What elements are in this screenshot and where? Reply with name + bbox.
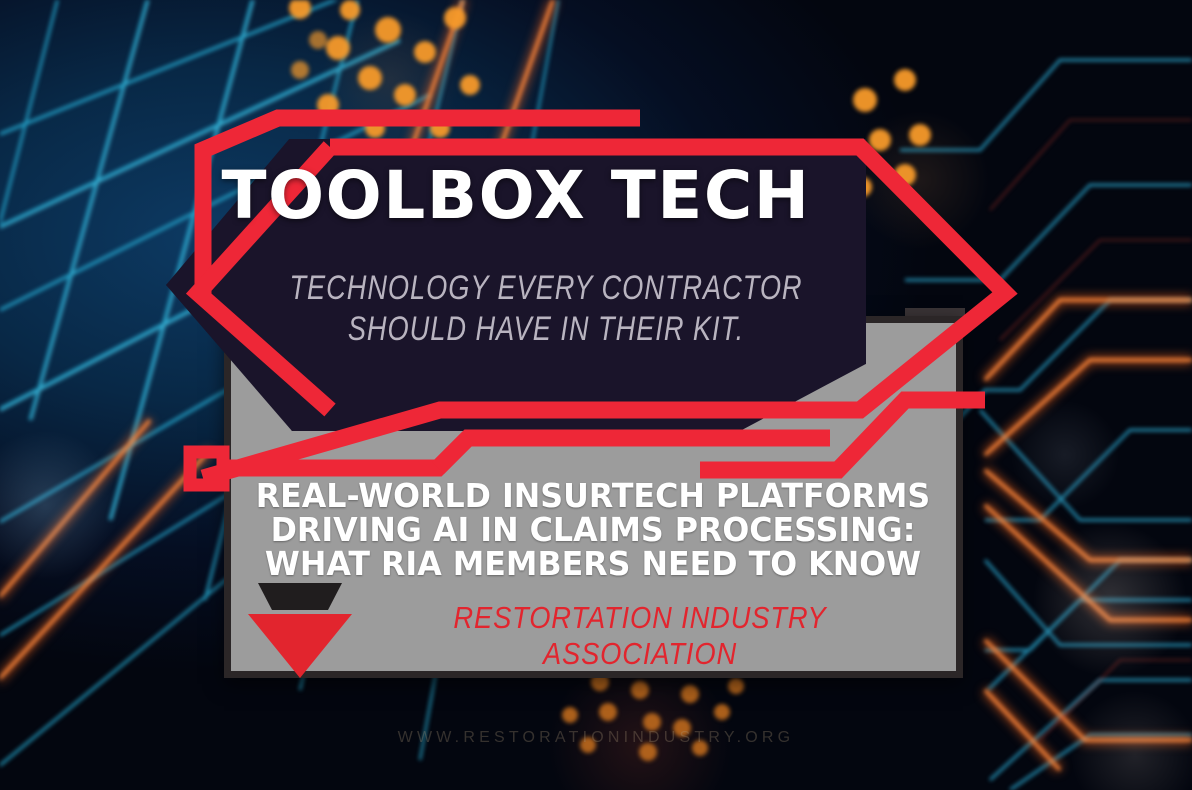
ria-triangle-logo [248, 583, 352, 678]
organization-name: RESTORTATION INDUSTRY ASSOCIATION [394, 600, 887, 672]
logo-black-trapezoid [258, 583, 342, 610]
site-watermark: WWW.RESTORATIONINDUSTRY.ORG [0, 729, 1192, 747]
article-headline: REAL-WORLD INSURTECH PLATFORMS DRIVING A… [254, 479, 932, 581]
page-title: TOOLBOX TECH [166, 163, 866, 229]
poster-canvas: WWW.RESTORATIONINDUSTRY.ORG TOOLBOX TECH… [0, 0, 1192, 790]
page-subtitle: TECHNOLOGY EVERY CONTRACTOR SHOULD HAVE … [266, 268, 826, 351]
logo-red-triangle [248, 614, 352, 678]
